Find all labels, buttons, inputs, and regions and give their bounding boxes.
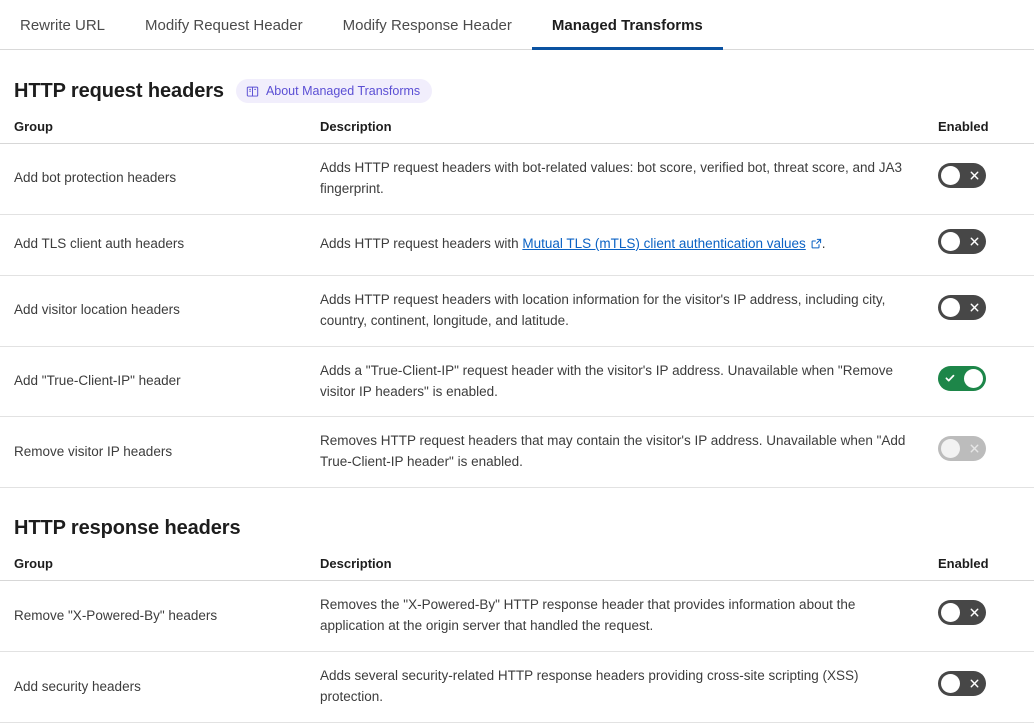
row-group-label: Add security headers <box>0 652 306 723</box>
toggle-knob <box>941 298 960 317</box>
mtls-client-authentication-link[interactable]: Mutual TLS (mTLS) client authentication … <box>522 236 805 251</box>
row-group-label: Add visitor location headers <box>0 275 306 346</box>
row-group-label: Add bot protection headers <box>0 144 306 215</box>
toggle-knob <box>964 369 983 388</box>
link-label: Mutual TLS (mTLS) client authentication … <box>522 236 805 251</box>
row-enabled-cell <box>924 581 1034 652</box>
table-row: Remove visitor IP headers Removes HTTP r… <box>0 417 1034 488</box>
description-text-after: . <box>822 236 826 251</box>
table-header-row: Group Description Enabled <box>0 115 1034 144</box>
row-description: Adds a "True-Client-IP" request header w… <box>306 346 924 417</box>
tab-managed-transforms[interactable]: Managed Transforms <box>532 0 723 50</box>
cross-icon <box>962 163 986 188</box>
toggle-add-bot-protection-headers[interactable] <box>938 163 986 188</box>
row-enabled-cell <box>924 417 1034 488</box>
badge-label: About Managed Transforms <box>266 84 420 98</box>
column-header-group: Group <box>0 115 306 144</box>
column-header-description: Description <box>306 115 924 144</box>
table-row: Add "True-Client-IP" header Adds a "True… <box>0 346 1034 417</box>
page-title: HTTP response headers <box>14 517 241 540</box>
table-row: Add bot protection headers Adds HTTP req… <box>0 144 1034 215</box>
table-row: Add TLS client auth headers Adds HTTP re… <box>0 214 1034 275</box>
toggle-knob <box>941 603 960 622</box>
page-title: HTTP request headers <box>14 80 224 103</box>
column-header-description: Description <box>306 552 924 581</box>
table-row: Remove "X-Powered-By" headers Removes th… <box>0 581 1034 652</box>
column-header-enabled: Enabled <box>924 115 1034 144</box>
toggle-remove-visitor-ip-headers <box>938 436 986 461</box>
row-group-label: Remove visitor IP headers <box>0 417 306 488</box>
toggle-knob <box>941 439 960 458</box>
table-row: Add security headers Adds several securi… <box>0 652 1034 723</box>
check-icon <box>938 366 962 391</box>
toggle-add-security-headers[interactable] <box>938 671 986 696</box>
tab-modify-response-header[interactable]: Modify Response Header <box>323 0 532 50</box>
row-enabled-cell <box>924 346 1034 417</box>
toggle-add-true-client-ip-header[interactable] <box>938 366 986 391</box>
row-description: Adds HTTP request headers with Mutual TL… <box>306 214 924 275</box>
cross-icon <box>962 229 986 254</box>
row-description: Removes the "X-Powered-By" HTTP response… <box>306 581 924 652</box>
row-enabled-cell <box>924 275 1034 346</box>
section-http-response-headers: HTTP response headers Group Description … <box>0 517 1034 723</box>
row-group-label: Add TLS client auth headers <box>0 214 306 275</box>
row-group-label: Remove "X-Powered-By" headers <box>0 581 306 652</box>
request-headers-table: Group Description Enabled Add bot protec… <box>0 115 1034 488</box>
tab-bar: Rewrite URL Modify Request Header Modify… <box>0 0 1034 50</box>
table-row: Add visitor location headers Adds HTTP r… <box>0 275 1034 346</box>
section-http-request-headers: HTTP request headers About Managed Trans… <box>0 79 1034 488</box>
section-header: HTTP request headers About Managed Trans… <box>0 79 1034 103</box>
section-header: HTTP response headers <box>0 517 1034 540</box>
tab-rewrite-url[interactable]: Rewrite URL <box>0 0 125 50</box>
column-header-group: Group <box>0 552 306 581</box>
toggle-knob <box>941 674 960 693</box>
cross-icon <box>962 671 986 696</box>
description-text-before: Adds HTTP request headers with <box>320 236 522 251</box>
cross-icon <box>962 600 986 625</box>
row-enabled-cell <box>924 652 1034 723</box>
cross-icon <box>962 436 986 461</box>
external-link-icon[interactable] <box>811 235 822 256</box>
toggle-add-visitor-location-headers[interactable] <box>938 295 986 320</box>
tab-modify-request-header[interactable]: Modify Request Header <box>125 0 323 50</box>
row-description: Adds several security-related HTTP respo… <box>306 652 924 723</box>
row-enabled-cell <box>924 214 1034 275</box>
toggle-remove-x-powered-by-headers[interactable] <box>938 600 986 625</box>
about-managed-transforms-badge[interactable]: About Managed Transforms <box>236 79 432 103</box>
row-description: Adds HTTP request headers with location … <box>306 275 924 346</box>
table-header-row: Group Description Enabled <box>0 552 1034 581</box>
row-description: Removes HTTP request headers that may co… <box>306 417 924 488</box>
toggle-knob <box>941 166 960 185</box>
response-headers-table: Group Description Enabled Remove "X-Powe… <box>0 552 1034 723</box>
column-header-enabled: Enabled <box>924 552 1034 581</box>
row-group-label: Add "True-Client-IP" header <box>0 346 306 417</box>
book-icon <box>246 85 259 98</box>
toggle-knob <box>941 232 960 251</box>
cross-icon <box>962 295 986 320</box>
row-description: Adds HTTP request headers with bot-relat… <box>306 144 924 215</box>
toggle-add-tls-client-auth-headers[interactable] <box>938 229 986 254</box>
row-enabled-cell <box>924 144 1034 215</box>
